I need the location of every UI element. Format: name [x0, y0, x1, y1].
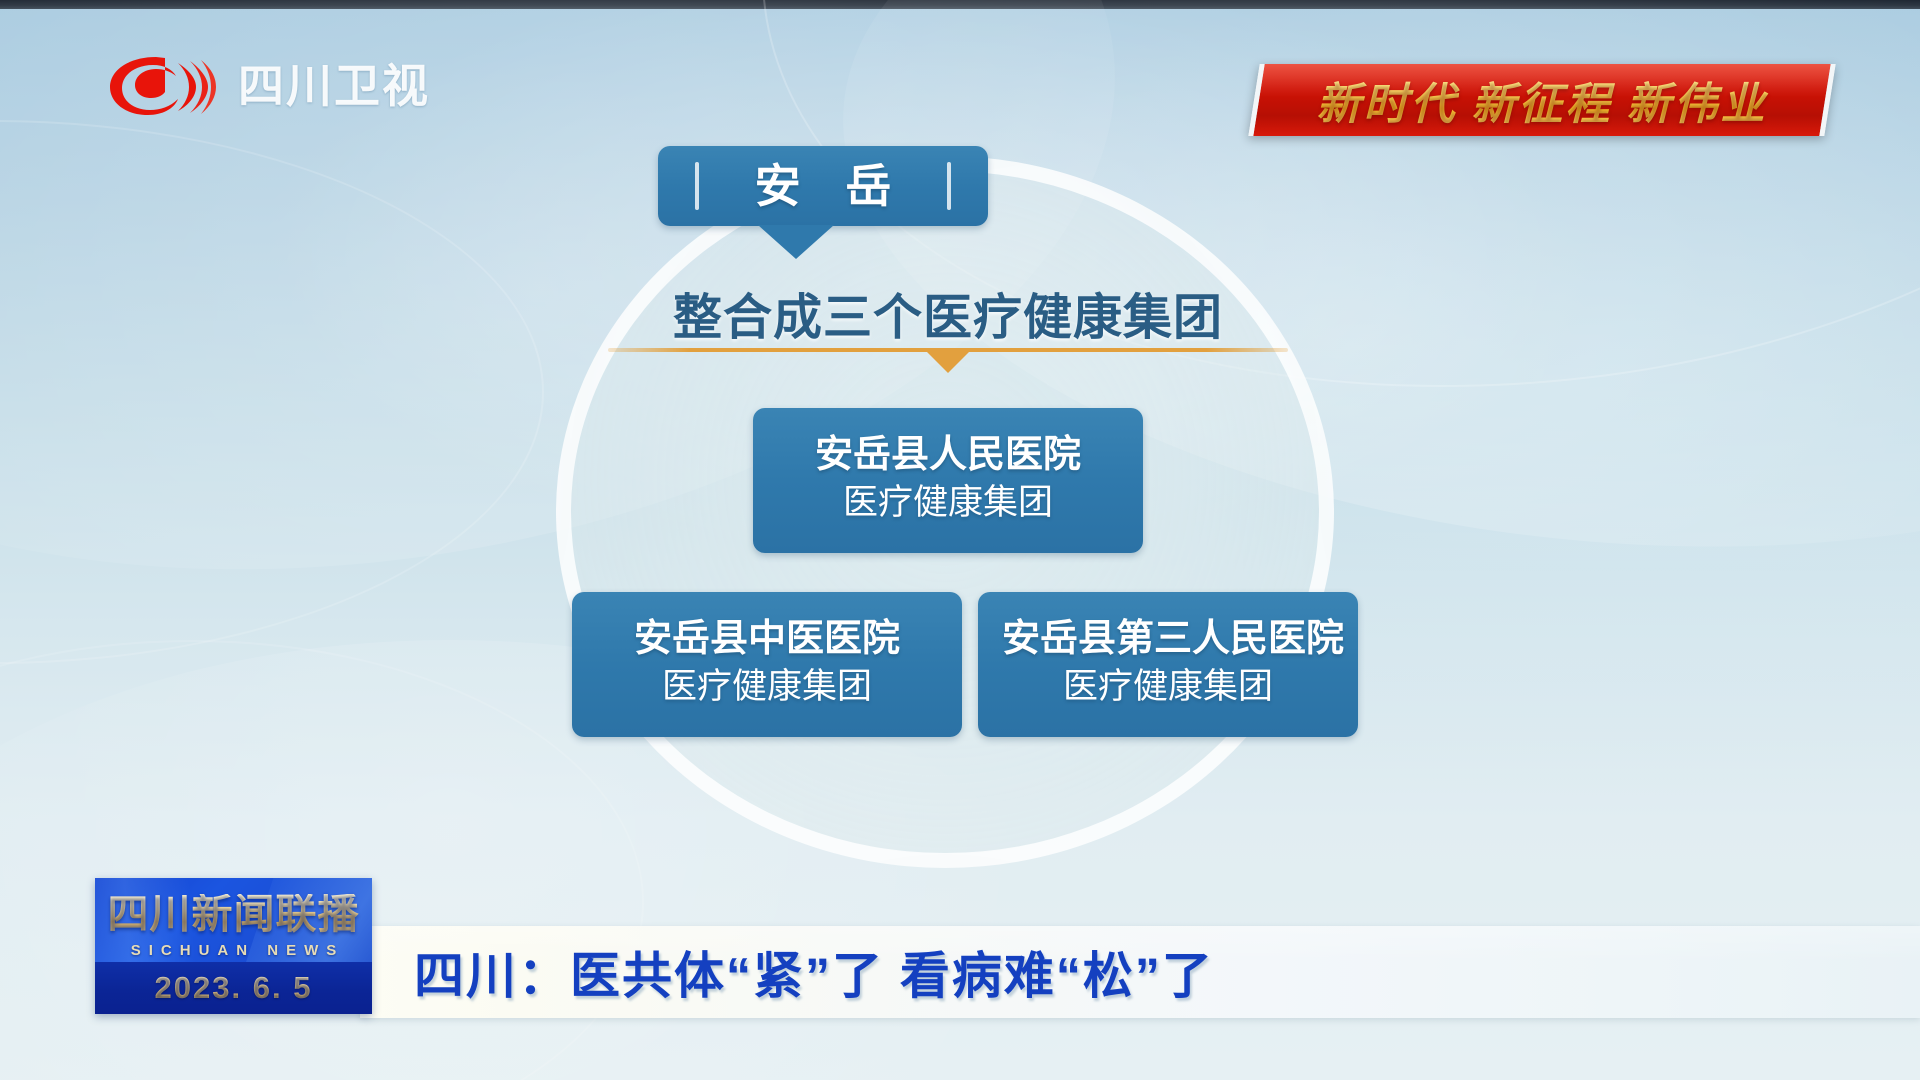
- triangle-down-icon: [926, 351, 970, 373]
- infographic-subtitle: 整合成三个医疗健康集团: [508, 278, 1388, 349]
- health-group-suffix: 医疗健康集团: [777, 482, 1119, 524]
- broadcast-date: 2023. 6. 5: [155, 970, 313, 1006]
- health-group-name: 安岳县中医医院: [596, 617, 938, 662]
- channel-logo: 四川卫视: [104, 48, 504, 124]
- health-group-name: 安岳县人民医院: [777, 433, 1119, 478]
- infographic-header-label: 安 岳: [739, 163, 908, 209]
- vertical-accent-bar-right-icon: [947, 162, 951, 210]
- health-group-node-1: 安岳县人民医院 医疗健康集团: [753, 408, 1143, 553]
- chevron-down-icon: [758, 225, 834, 259]
- headline-bar: 四川：医共体“紧”了 看病难“松”了: [360, 926, 1920, 1018]
- program-name-cn: 四川新闻联播: [95, 894, 372, 935]
- health-group-node-2: 安岳县中医医院 医疗健康集团: [572, 592, 962, 737]
- program-name-en: SICHUAN NEWS: [95, 942, 372, 959]
- infographic: 安 岳 整合成三个医疗健康集团 安岳县人民医院 医疗健康集团 安岳县中医医院 医…: [548, 150, 1348, 880]
- infographic-header-node: 安 岳: [658, 146, 988, 226]
- headline-text: 四川：医共体“紧”了 看病难“松”了: [414, 936, 1214, 1008]
- health-group-node-3: 安岳县第三人民医院 医疗健康集团: [978, 592, 1358, 737]
- slogan-banner: 新时代 新征程 新伟业: [1248, 64, 1835, 136]
- background-arc-left: [0, 120, 544, 664]
- program-badge: 四川新闻联播 SICHUAN NEWS 2023. 6. 5: [95, 878, 372, 1014]
- vertical-accent-bar-left-icon: [695, 162, 699, 210]
- channel-logo-text: 四川卫视: [238, 63, 430, 109]
- top-letterbox-bar: [0, 0, 1920, 9]
- broadcast-date-strip: 2023. 6. 5: [95, 962, 372, 1014]
- health-group-suffix: 医疗健康集团: [1002, 666, 1334, 708]
- health-group-suffix: 医疗健康集团: [596, 666, 938, 708]
- broadcast-screen: 四川卫视 新时代 新征程 新伟业 安 岳 整合成三个医疗健康集团 安岳县人民医院…: [0, 0, 1920, 1080]
- health-group-name: 安岳县第三人民医院: [1002, 617, 1334, 662]
- sichuan-tv-swirl-logo: [104, 53, 216, 119]
- slogan-banner-text: 新时代 新征程 新伟业: [1259, 64, 1825, 136]
